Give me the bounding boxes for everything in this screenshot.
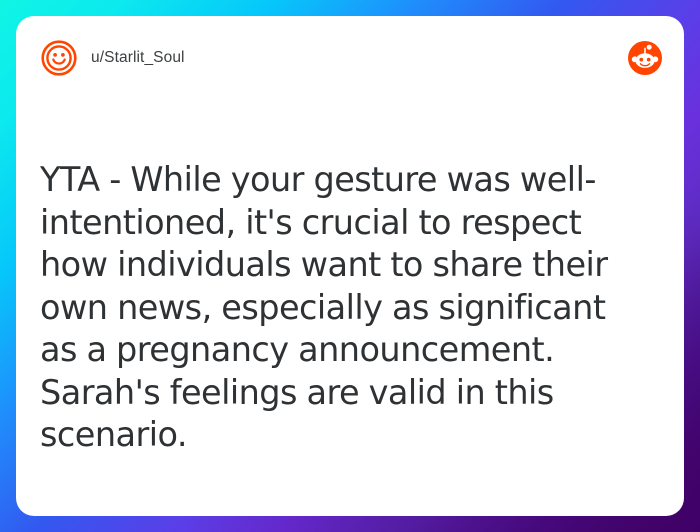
smiley-face-avatar-icon bbox=[40, 39, 78, 77]
reddit-snoo-logo-icon bbox=[628, 41, 662, 75]
post-header: u/Starlit_Soul bbox=[16, 16, 684, 100]
reddit-logo[interactable] bbox=[628, 41, 662, 75]
avatar[interactable] bbox=[40, 39, 78, 77]
post-text: YTA - While your gesture was well-intent… bbox=[40, 159, 650, 457]
screenshot-canvas: u/Starlit_Soul bbox=[0, 0, 700, 532]
username-label: u/Starlit_Soul bbox=[91, 49, 185, 67]
reddit-post-card: u/Starlit_Soul bbox=[16, 16, 684, 516]
post-body: YTA - While your gesture was well-intent… bbox=[16, 100, 684, 516]
